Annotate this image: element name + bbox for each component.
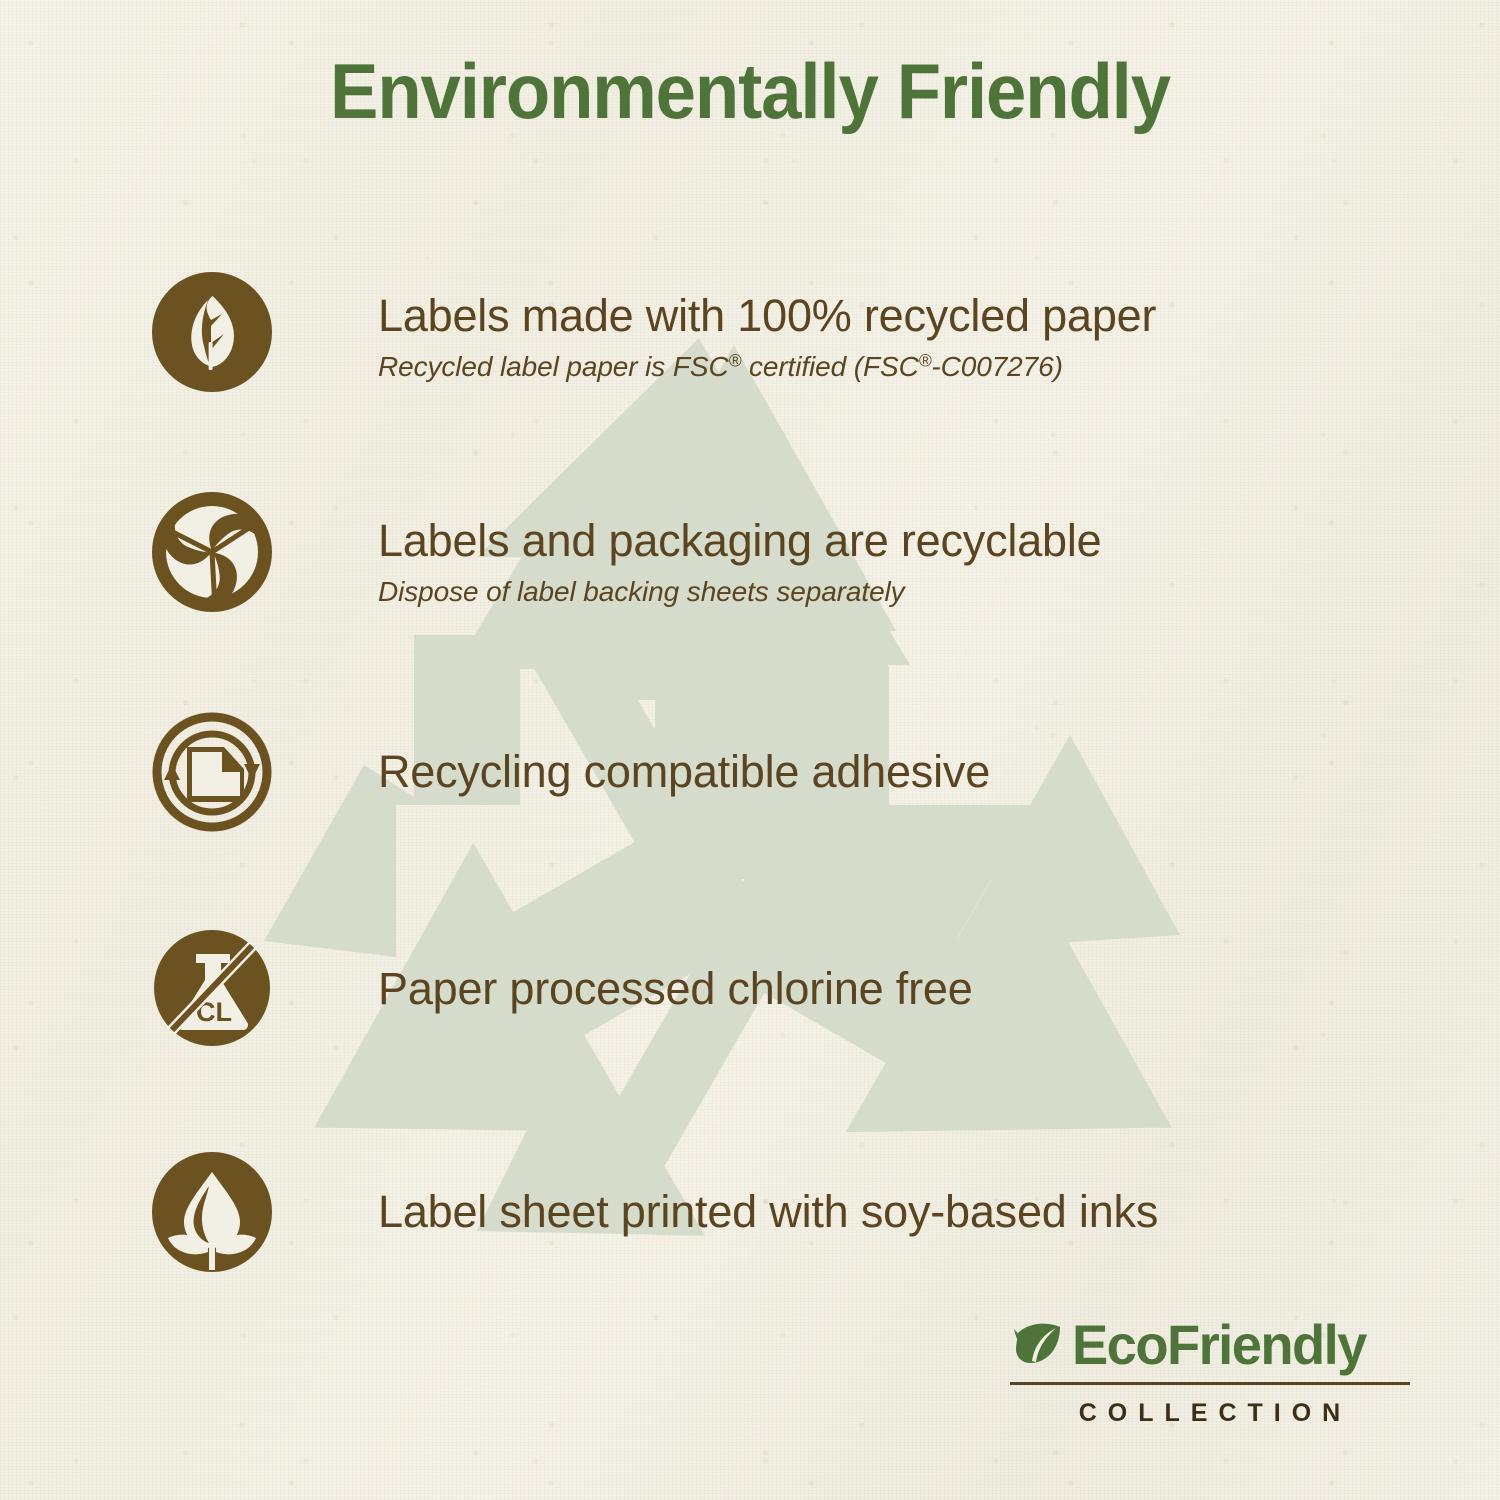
logo-tagline: COLLECTION — [1010, 1399, 1410, 1428]
feature-headline: Labels made with 100% recycled paper — [378, 292, 1378, 340]
feature-subtext: Recycled label paper is FSC® certified (… — [378, 349, 1378, 384]
feature-headline: Labels and packaging are recyclable — [378, 517, 1378, 565]
page-title: Environmentally Friendly — [53, 46, 1448, 137]
logo-divider — [1010, 1382, 1410, 1385]
no-chlorine-flask-icon: CL — [152, 928, 272, 1048]
feature-subtext: Dispose of label backing sheets separate… — [378, 574, 1378, 609]
leaf-icon — [1010, 1317, 1066, 1373]
feature-headline: Recycling compatible adhesive — [378, 748, 1378, 796]
feature-text-group: Label sheet printed with soy-based inks — [378, 1188, 1378, 1236]
recycle-leaves-icon — [152, 492, 272, 612]
feature-text-group: Labels made with 100% recycled paper Rec… — [378, 292, 1378, 384]
subtext-suffix: -C007276) — [931, 351, 1062, 382]
subtext-middle: certified (FSC — [741, 351, 918, 382]
registered-mark: ® — [729, 350, 742, 370]
document-recycle-icon — [152, 712, 272, 832]
logo-brand-name: EcoFriendly — [1072, 1317, 1366, 1373]
registered-mark: ® — [919, 350, 932, 370]
ecofriendly-collection-logo: EcoFriendly COLLECTION — [1010, 1317, 1410, 1428]
feature-text-group: Paper processed chlorine free — [378, 965, 1378, 1013]
subtext-prefix: Recycled label paper is FSC — [378, 351, 729, 382]
soy-droplet-plant-icon — [152, 1152, 272, 1272]
feature-headline: Label sheet printed with soy-based inks — [378, 1188, 1378, 1236]
leaf-icon — [152, 272, 272, 392]
feature-headline: Paper processed chlorine free — [378, 965, 1378, 1013]
feature-text-group: Recycling compatible adhesive — [378, 748, 1378, 796]
feature-text-group: Labels and packaging are recyclable Disp… — [378, 517, 1378, 609]
